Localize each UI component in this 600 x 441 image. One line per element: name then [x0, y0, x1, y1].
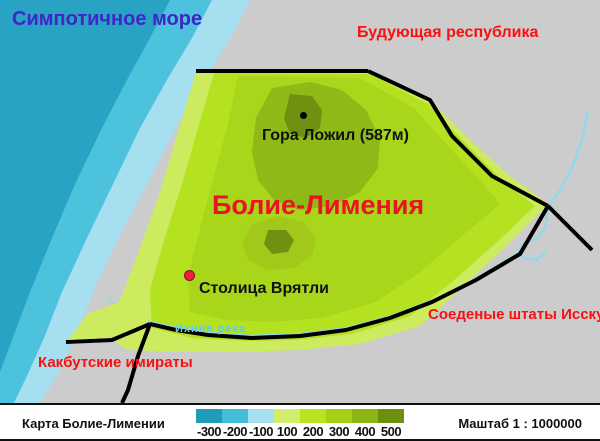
elevation-tick-7: 500 — [378, 424, 404, 439]
elevation-tick-3: 100 — [274, 424, 300, 439]
legend-map-title: Карта Болие-Лимении — [22, 416, 165, 431]
capital-city-marker[interactable] — [184, 270, 195, 281]
elevation-tick-6: 400 — [352, 424, 378, 439]
elevation-colour-swatches — [196, 409, 404, 423]
elevation-swatch-200 — [300, 409, 326, 423]
map-graphic — [0, 0, 600, 403]
elevation-tick-0: -300 — [196, 424, 222, 439]
elevation-swatch-400 — [352, 409, 378, 423]
elevation-tick-labels: -300-200-100100200300400500 — [196, 424, 404, 439]
map-screenshot: Симпотичное море Будующая республика Гор… — [0, 0, 600, 441]
elevation-swatch--200 — [222, 409, 248, 423]
elevation-swatch-100 — [274, 409, 300, 423]
elevation-tick-1: -200 — [222, 424, 248, 439]
elevation-swatch-300 — [326, 409, 352, 423]
elevation-scale: -300-200-100100200300400500 — [196, 409, 404, 439]
legend-bar: Карта Болие-Лимении -300-200-10010020030… — [0, 403, 600, 441]
map-canvas[interactable]: Симпотичное море Будующая республика Гор… — [0, 0, 600, 403]
map-scale-ratio: Маштаб 1 : 1000000 — [458, 416, 582, 431]
elevation-tick-5: 300 — [326, 424, 352, 439]
elevation-swatch-500 — [378, 409, 404, 423]
elevation-swatch--300 — [196, 409, 222, 423]
elevation-tick-4: 200 — [300, 424, 326, 439]
mountain-peak-marker[interactable] — [300, 112, 307, 119]
elevation-swatch--100 — [248, 409, 274, 423]
elevation-tick-2: -100 — [248, 424, 274, 439]
